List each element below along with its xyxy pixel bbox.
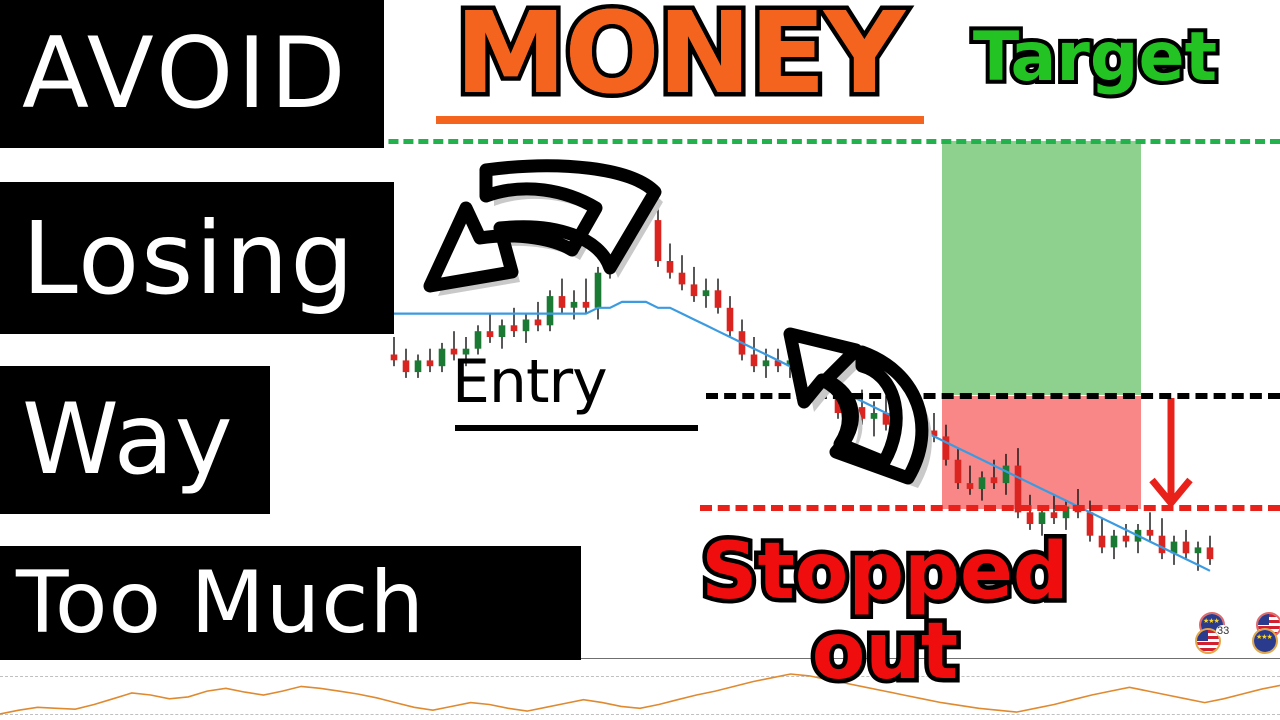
badge-count: 33 (1216, 625, 1230, 637)
stopped-out-line2: out out (660, 614, 1110, 694)
banner-text: Losing (0, 200, 356, 317)
money-title: MONEY MONEY (434, 0, 924, 132)
screenshot-root: 33 Entry AVOID Losing Way Too Much MONEY… (0, 0, 1280, 720)
eu-flag-icon (1254, 630, 1276, 652)
money-title-fill: MONEY (434, 0, 924, 114)
stop-level-line (700, 505, 1280, 511)
banner-line-avoid: AVOID (0, 0, 384, 148)
down-arrow-icon (1152, 398, 1190, 503)
target-label-fill: Target (960, 24, 1230, 92)
money-title-underline (436, 116, 924, 124)
entry-level-line (706, 393, 1280, 399)
banner-text: Too Much (0, 553, 425, 653)
stopped-out-fill: Stopped (660, 534, 1110, 610)
entry-label: Entry (452, 352, 607, 412)
banner-line-too-much: Too Much (0, 546, 581, 660)
banner-text: AVOID (0, 17, 350, 131)
banner-line-way: Way (0, 366, 270, 514)
banner-text: Way (0, 383, 234, 497)
stopped-out-line1: Stopped Stopped (660, 534, 1110, 614)
stopped-out-label: Stopped Stopped out out (660, 534, 1110, 694)
entry-label-underline (455, 425, 698, 431)
stopped-out-fill: out (660, 614, 1110, 690)
target-label: Target Target (960, 24, 1230, 114)
banner-line-losing: Losing (0, 182, 394, 334)
